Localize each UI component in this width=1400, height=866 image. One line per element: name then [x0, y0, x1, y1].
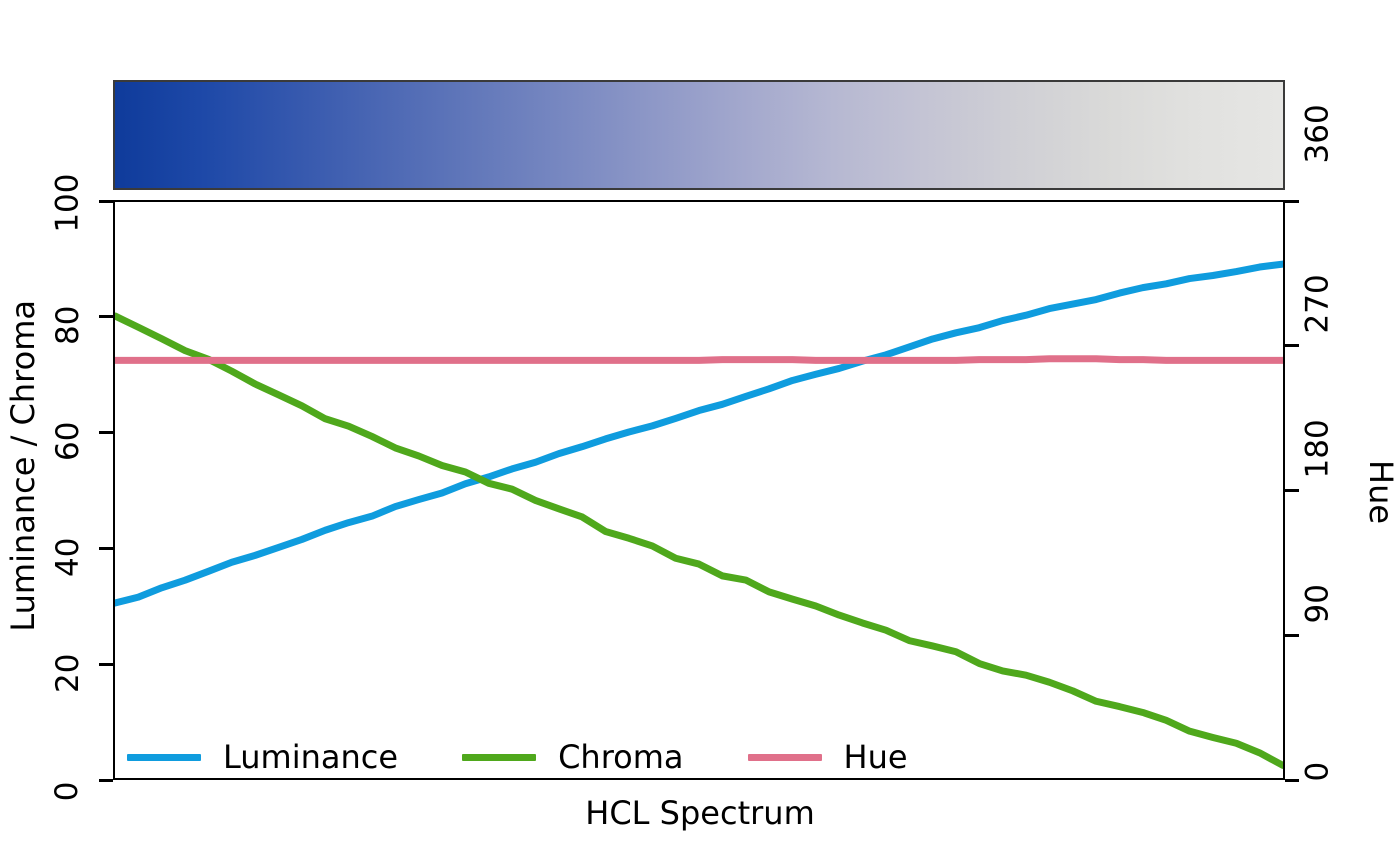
tick-mark-left-40: [99, 547, 113, 550]
tick-mark-left-80: [99, 315, 113, 318]
legend-swatch-hue: [748, 754, 822, 761]
axis-label-right-0: 0: [1303, 762, 1334, 782]
series-lines: [115, 202, 1283, 778]
legend-label-chroma: Chroma: [558, 741, 683, 773]
series-line-hue: [115, 359, 1283, 361]
tick-mark-left-0: [99, 779, 113, 782]
axis-label-right-180: 180: [1303, 419, 1334, 478]
axis-label-left-40: 40: [53, 538, 84, 577]
tick-mark-right-180: [1285, 489, 1299, 492]
axis-label-right-270: 270: [1303, 274, 1334, 333]
axis-label-left-60: 60: [53, 422, 84, 461]
axis-label-left-80: 80: [53, 306, 84, 345]
legend-label-hue: Hue: [844, 741, 908, 773]
legend-label-luminance: Luminance: [223, 741, 398, 773]
axis-label-right-360: 360: [1303, 104, 1334, 163]
legend-item-hue[interactable]: Hue: [748, 741, 972, 773]
legend-swatch-chroma: [462, 754, 536, 761]
plot-area: [113, 200, 1285, 780]
tick-mark-right-90: [1285, 634, 1299, 637]
spectrum-gradient: [115, 82, 1283, 188]
axis-label-left-20: 20: [53, 654, 84, 693]
tick-mark-right-0: [1285, 779, 1299, 782]
chart-legend: Luminance Chroma Hue: [127, 741, 972, 773]
hcl-spectrum-swatch-bar: [113, 80, 1285, 190]
axis-label-left-100: 100: [53, 174, 84, 233]
x-axis-title: HCL Spectrum: [0, 794, 1400, 832]
tick-mark-left-60: [99, 431, 113, 434]
legend-swatch-luminance: [127, 754, 201, 761]
legend-item-luminance[interactable]: Luminance: [127, 741, 462, 773]
series-line-luminance: [115, 264, 1283, 603]
y-axis-right-title: Hue: [1362, 460, 1400, 524]
axis-label-right-90: 90: [1303, 584, 1334, 623]
legend-item-chroma[interactable]: Chroma: [462, 741, 747, 773]
tick-mark-left-100: [99, 200, 113, 203]
y-axis-left-title: Luminance / Chroma: [4, 300, 38, 632]
tick-mark-left-20: [99, 663, 113, 666]
chart-canvas: 0 20 40 60 80 100 0 90 180 270 360 Lumin…: [0, 0, 1400, 866]
tick-mark-right-270: [1285, 344, 1299, 347]
tick-mark-right-360: [1285, 200, 1299, 203]
